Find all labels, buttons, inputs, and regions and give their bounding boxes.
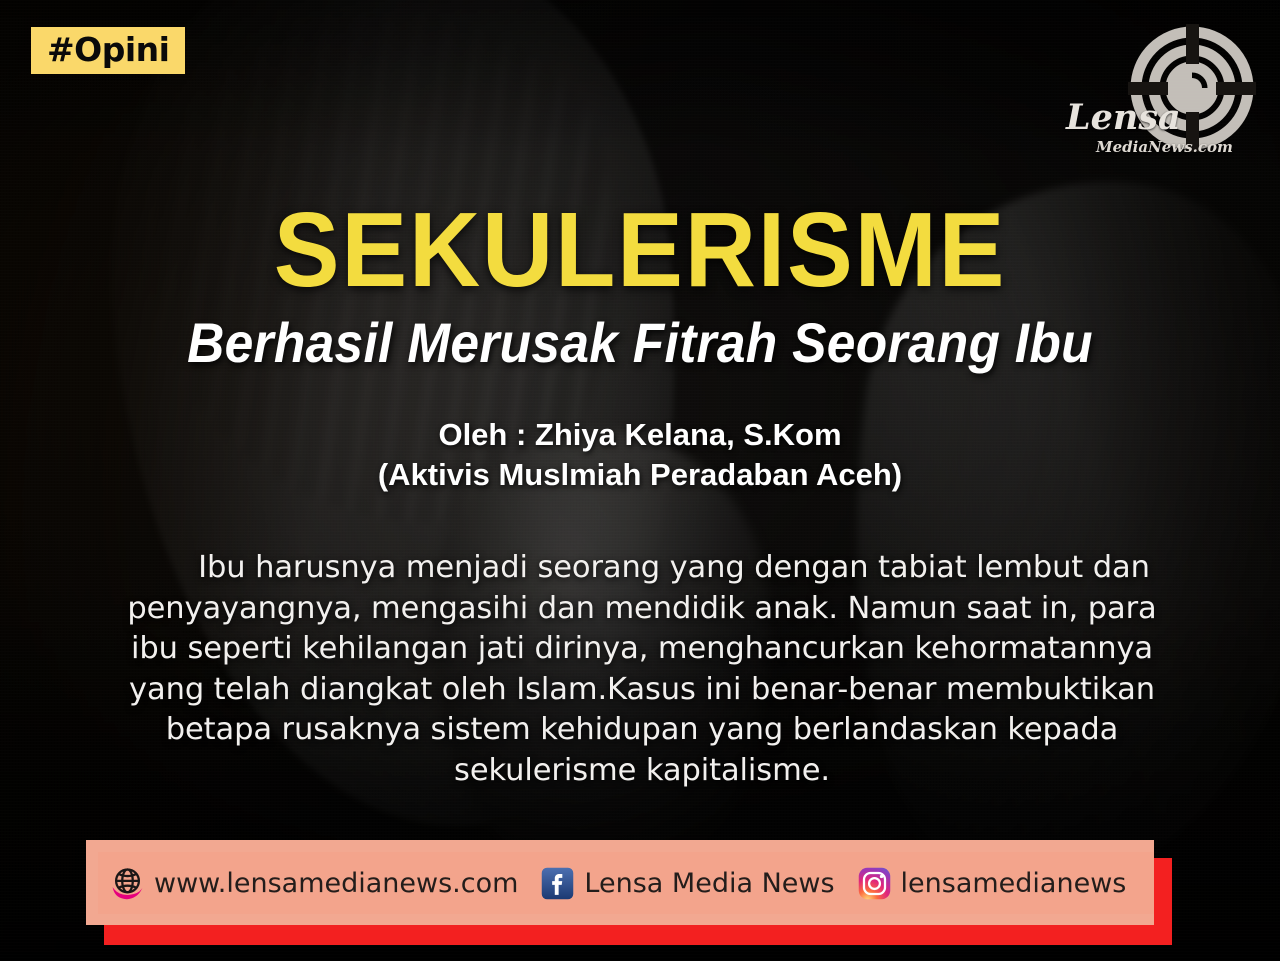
headline-block: SEKULERISME Berhasil Merusak Fitrah Seor… bbox=[0, 196, 1280, 373]
footer-facebook-label: Lensa Media News bbox=[584, 870, 834, 897]
footer-website[interactable]: www.lensamedianews.com bbox=[110, 866, 518, 901]
globe-icon bbox=[110, 866, 145, 901]
footer-website-label: www.lensamedianews.com bbox=[154, 870, 518, 897]
footer-instagram-label: lensamedianews bbox=[901, 870, 1127, 897]
facebook-icon bbox=[540, 866, 575, 901]
article-excerpt: Ibu harusnya menjadi seorang yang dengan… bbox=[126, 548, 1158, 791]
brand-logo: Lensa MediaNews.com bbox=[1060, 24, 1256, 174]
footer-facebook[interactable]: Lensa Media News bbox=[540, 866, 834, 901]
category-badge-opini: #Opini bbox=[31, 27, 185, 74]
instagram-icon bbox=[857, 866, 892, 901]
byline-block: Oleh : Zhiya Kelana, S.Kom (Aktivis Musl… bbox=[0, 415, 1280, 494]
footer-instagram[interactable]: lensamedianews bbox=[857, 866, 1127, 901]
page-title: SEKULERISME bbox=[45, 196, 1235, 304]
byline-affiliation: (Aktivis Muslmiah Peradaban Aceh) bbox=[0, 455, 1280, 495]
opini-poster: #Opini Lensa bbox=[0, 0, 1280, 961]
brand-wordmark: Lensa bbox=[1066, 100, 1181, 135]
brand-sub-wordmark: MediaNews.com bbox=[1096, 140, 1233, 155]
footer-bar: www.lensamedianews.com Lensa Medi bbox=[86, 840, 1172, 945]
byline-author: Oleh : Zhiya Kelana, S.Kom bbox=[0, 415, 1280, 455]
poster-content: #Opini Lensa bbox=[0, 0, 1280, 961]
footer-social-row: www.lensamedianews.com Lensa Medi bbox=[98, 852, 1154, 914]
page-subtitle: Berhasil Merusak Fitrah Seorang Ibu bbox=[51, 314, 1229, 373]
